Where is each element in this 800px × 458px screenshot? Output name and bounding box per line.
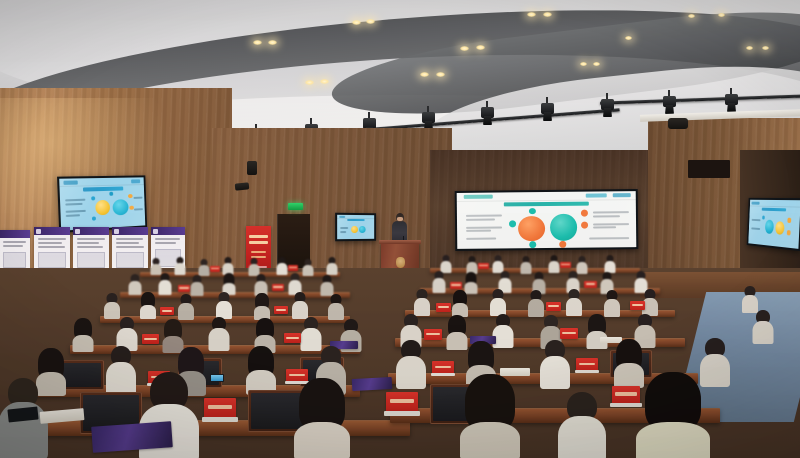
red-name-placard — [560, 328, 578, 339]
stage-spotlight — [540, 97, 555, 123]
audience-member — [246, 346, 276, 394]
downlight — [718, 13, 725, 17]
audience-member — [174, 257, 185, 274]
slide-text-line — [593, 211, 629, 213]
slide-text-line — [466, 215, 502, 217]
podium-slide-content — [337, 215, 374, 239]
wall-mounted-speaker — [247, 161, 257, 175]
audience-member — [254, 293, 270, 319]
poster-badge-icon — [153, 229, 158, 234]
poster-figure-block — [77, 252, 105, 268]
red-name-placard — [478, 263, 489, 269]
poster-text-line — [116, 238, 143, 240]
audience-member — [288, 273, 301, 294]
audience-member — [540, 340, 570, 388]
audience-member — [446, 315, 467, 348]
slide-satellite-dot — [788, 218, 791, 222]
downlight — [253, 40, 262, 45]
downlight — [593, 62, 600, 66]
main-projection-screen[interactable] — [455, 189, 639, 251]
conference-booklet — [91, 421, 173, 453]
slide-title-bar — [83, 186, 124, 191]
downlight — [436, 72, 445, 77]
audience-member — [222, 257, 233, 274]
slide-tag — [752, 202, 760, 205]
slide-logo — [131, 179, 141, 183]
audience-member — [190, 275, 203, 295]
audience-member — [414, 289, 430, 315]
audience-member — [328, 294, 344, 319]
audience-member — [292, 292, 308, 318]
smartphone[interactable] — [210, 374, 224, 382]
audience-member — [296, 378, 348, 458]
slide-hub-teal — [550, 214, 577, 241]
slide-hub-yellow — [352, 226, 358, 233]
downlight — [460, 46, 469, 51]
placard-base — [610, 403, 642, 407]
slide-satellite-dot — [787, 231, 790, 236]
audience-member — [440, 255, 451, 272]
slide-text-line — [340, 231, 346, 233]
banner-text-line — [249, 241, 268, 244]
podium-emblem-icon — [396, 257, 405, 268]
left-slide-content — [59, 177, 145, 230]
wall-acoustic-panel — [688, 160, 730, 178]
audience-member — [106, 346, 136, 394]
slide-text-line — [340, 227, 348, 229]
audience-member — [452, 290, 468, 316]
poster-text-line — [38, 246, 65, 248]
wall-mounted-speaker — [235, 182, 250, 190]
poster-figure-block — [116, 252, 144, 268]
podium-confidence-monitor[interactable] — [335, 213, 376, 242]
slide-hub-orange — [518, 216, 545, 241]
audience-member — [548, 255, 559, 272]
poster-figure-block — [38, 252, 66, 268]
placard-base — [384, 411, 420, 416]
red-name-placard — [450, 282, 462, 289]
audience-member — [326, 257, 337, 274]
placard-base — [575, 370, 599, 373]
right-slide-content — [748, 200, 800, 249]
audience-member — [462, 374, 518, 458]
audience-member — [466, 256, 477, 273]
downlight — [268, 40, 277, 45]
slide-text-line — [466, 230, 491, 232]
downlight — [543, 12, 552, 17]
audience-member — [320, 275, 333, 295]
slide-text-line — [752, 219, 760, 221]
slide-satellite-dot — [528, 208, 535, 215]
audience-member — [604, 290, 620, 316]
slide-satellite-dot — [128, 194, 132, 198]
stage-spotlight — [662, 90, 677, 116]
red-name-placard — [204, 398, 236, 418]
red-name-placard — [178, 285, 190, 292]
poster-badge-icon — [36, 229, 41, 234]
presenter-face — [397, 217, 403, 221]
red-name-placard — [284, 333, 301, 343]
audience-member — [752, 310, 773, 343]
poster-text-line — [38, 238, 66, 240]
audience-member — [604, 255, 615, 272]
red-name-placard — [274, 306, 288, 314]
poster-text-line — [77, 238, 105, 240]
slide-satellite-dot — [92, 216, 96, 220]
chair — [60, 360, 104, 390]
audience-member — [104, 293, 120, 318]
downlight — [762, 46, 769, 50]
slide-text-line — [66, 202, 83, 205]
slide-text-line — [590, 237, 629, 239]
slide-tag — [339, 216, 345, 218]
poster-text-line — [3, 241, 26, 243]
left-projection-screen[interactable] — [57, 175, 147, 233]
banner-text-line — [249, 235, 268, 238]
slide-text-line — [752, 228, 760, 231]
audience-member — [302, 259, 313, 275]
slide-text-line — [466, 237, 496, 239]
slide-text-line — [466, 226, 502, 228]
poster-header — [0, 230, 30, 238]
conference-booklet — [352, 377, 393, 391]
wall-mounted-speaker — [668, 118, 688, 129]
audience-member — [560, 392, 604, 458]
slide-hub-cyan — [359, 226, 366, 233]
audience-member — [520, 256, 531, 273]
slide-text-line — [66, 214, 80, 217]
slide-title-bar — [762, 207, 786, 211]
audience-member — [490, 289, 506, 315]
red-name-placard — [612, 386, 640, 404]
slide-satellite-dot — [529, 241, 536, 248]
poster-text-line — [77, 246, 103, 248]
slide-logo — [586, 194, 608, 198]
slide-logo-secondary — [612, 193, 630, 197]
poster-text-line — [116, 246, 144, 248]
slide-satellite-dot — [580, 209, 587, 216]
poster-text-line — [77, 242, 99, 244]
slide-title-bar — [503, 201, 589, 206]
slide-text-line — [593, 215, 620, 217]
audience-member — [198, 259, 209, 275]
red-name-placard — [386, 392, 418, 412]
audience-member — [254, 274, 267, 295]
downlight — [352, 20, 361, 25]
slide-satellite-dot — [762, 215, 765, 219]
podium-top-surface — [379, 240, 421, 244]
audience-member — [158, 273, 171, 294]
slide-text-line — [66, 210, 86, 213]
red-name-placard — [436, 303, 451, 312]
poster-text-line — [3, 245, 23, 247]
audience-member — [150, 258, 161, 274]
red-name-placard — [160, 307, 174, 315]
poster-badge-icon — [114, 229, 119, 234]
red-name-placard — [424, 329, 442, 340]
banner-text-line — [251, 251, 266, 253]
downlight — [580, 62, 587, 66]
audience-member — [640, 372, 706, 458]
downlight — [420, 72, 429, 77]
red-name-placard — [210, 266, 220, 272]
slide-satellite-dot — [109, 192, 112, 196]
poster-text-line — [155, 242, 176, 244]
audience-member — [396, 340, 426, 388]
audience-member — [222, 273, 235, 294]
conference-hall-photo — [0, 0, 800, 458]
slide-text-line — [466, 218, 495, 220]
poster-text-line — [38, 242, 62, 244]
audience-member — [566, 289, 582, 315]
right-projection-screen[interactable] — [747, 198, 800, 251]
audience-member — [140, 292, 156, 318]
downlight — [305, 80, 314, 85]
audience-member — [742, 286, 758, 312]
slide-text-line — [65, 199, 85, 202]
audience-member — [432, 271, 445, 292]
audience-member — [216, 292, 232, 318]
slide-hub-cyan — [765, 220, 774, 234]
slide-title-bar — [347, 219, 365, 221]
red-name-placard — [288, 265, 298, 271]
downlight — [366, 19, 375, 24]
slide-text-line — [134, 208, 143, 210]
red-name-placard — [272, 284, 284, 291]
main-slide-content — [457, 191, 637, 249]
poster-text-line — [155, 238, 180, 240]
audience-member — [208, 317, 229, 350]
placard-base — [202, 417, 238, 422]
poster-figure-block — [3, 252, 26, 268]
downlight — [688, 14, 695, 18]
slide-hub-cyan — [112, 199, 128, 215]
exit-sign-icon — [288, 203, 303, 210]
red-name-placard — [546, 302, 561, 311]
red-name-placard — [142, 334, 159, 344]
audience-member — [492, 255, 503, 272]
slide-satellite-dot — [509, 220, 516, 227]
downlight — [320, 79, 329, 84]
downlight — [625, 36, 632, 40]
audience-member — [178, 294, 194, 319]
downlight — [527, 12, 536, 17]
audience-member — [276, 257, 287, 274]
poster-text-line — [116, 242, 139, 244]
downlight — [476, 45, 485, 50]
slide-tag — [63, 180, 77, 184]
slide-text-line — [593, 227, 616, 229]
audience-member — [528, 290, 544, 316]
slide-hub-yellow — [95, 200, 110, 215]
placard-base — [431, 373, 455, 376]
red-name-placard — [630, 301, 645, 310]
slide-satellite-dot — [91, 196, 95, 200]
stage-spotlight — [724, 88, 739, 114]
audience-member — [128, 274, 141, 294]
red-name-placard — [560, 262, 571, 268]
slide-satellite-dot — [581, 222, 588, 229]
slide-hub-yellow — [776, 221, 785, 235]
audience-member — [248, 258, 259, 275]
slide-text-line — [133, 197, 143, 199]
downlight — [746, 46, 753, 50]
audience-member — [72, 318, 93, 350]
poster-badge-icon — [75, 229, 80, 234]
slide-tag — [464, 195, 493, 199]
slide-text-line — [593, 223, 629, 225]
stage-spotlight — [600, 93, 615, 119]
red-name-placard — [584, 281, 597, 288]
slide-satellite-dot — [559, 241, 566, 248]
stage-spotlight — [480, 101, 495, 127]
